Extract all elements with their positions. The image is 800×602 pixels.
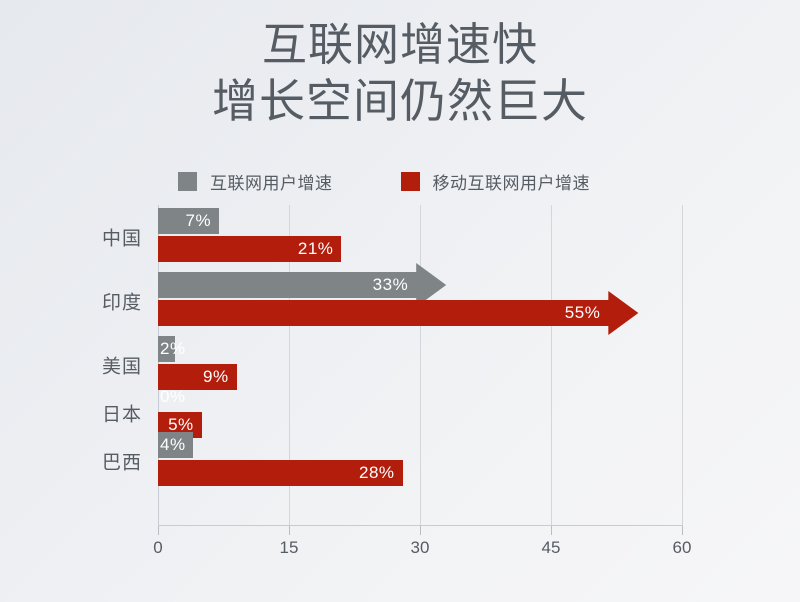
chart-row: 中国7%21%: [158, 205, 682, 269]
chart-plot-area: 中国7%21%印度33%55%美国2%9%日本0%5%巴西4%28%: [158, 205, 682, 525]
bar-gray-4[interactable]: 4%: [158, 432, 193, 458]
bar-red-4[interactable]: 28%: [158, 460, 403, 486]
title-line-1: 互联网增速快: [0, 18, 800, 73]
x-tick-label-0: 0: [153, 538, 162, 558]
x-tick-label-30: 30: [411, 538, 430, 558]
x-tick-label-15: 15: [280, 538, 299, 558]
slide-canvas: 互联网增速快 增长空间仍然巨大 互联网用户增速 移动互联网用户增速 中国7%21…: [0, 0, 800, 602]
legend-swatch-red: [401, 172, 420, 191]
legend-swatch-gray: [178, 172, 197, 191]
bar-value-gray-2: 2%: [160, 339, 186, 359]
legend-label-red: 移动互联网用户增速: [433, 169, 591, 194]
category-label-0: 中国: [102, 224, 142, 251]
category-label-2: 美国: [102, 352, 142, 379]
legend-label-gray: 互联网用户增速: [210, 169, 333, 194]
title-line-2: 增长空间仍然巨大: [0, 73, 800, 129]
x-tick-45: [551, 526, 552, 535]
category-label-1: 印度: [102, 288, 142, 315]
legend-item-internet-user-growth[interactable]: 互联网用户增速: [178, 169, 333, 194]
bar-gray-0[interactable]: 7%: [158, 208, 219, 234]
bar-value-red-0: 21%: [298, 239, 334, 259]
gridline-60: [682, 205, 683, 525]
x-tick-60: [682, 526, 683, 535]
bar-value-gray-4: 4%: [160, 435, 186, 455]
chart-row: 印度33%55%: [158, 269, 682, 333]
x-tick-15: [289, 526, 290, 535]
x-tick-30: [420, 526, 421, 535]
bar-red-1[interactable]: 55%: [158, 291, 638, 335]
x-tick-label-45: 45: [542, 538, 561, 558]
bar-red-0[interactable]: 21%: [158, 236, 341, 262]
x-tick-label-60: 60: [673, 538, 692, 558]
bar-value-red-4: 28%: [359, 463, 395, 483]
chart-row: 巴西4%28%: [158, 429, 682, 493]
chart-legend: 互联网用户增速 移动互联网用户增速: [178, 168, 648, 194]
legend-item-mobile-internet-user-growth[interactable]: 移动互联网用户增速: [401, 169, 591, 194]
bar-value-gray-3: 0%: [160, 387, 186, 407]
page-title: 互联网增速快 增长空间仍然巨大: [0, 18, 800, 129]
bar-gray-2[interactable]: 2%: [158, 336, 175, 362]
bar-value-red-1: 55%: [565, 303, 601, 323]
x-tick-0: [158, 526, 159, 535]
chart-rows: 中国7%21%印度33%55%美国2%9%日本0%5%巴西4%28%: [158, 205, 682, 525]
bar-value-gray-0: 7%: [186, 211, 212, 231]
category-label-3: 日本: [102, 400, 142, 427]
category-label-4: 巴西: [102, 448, 142, 475]
